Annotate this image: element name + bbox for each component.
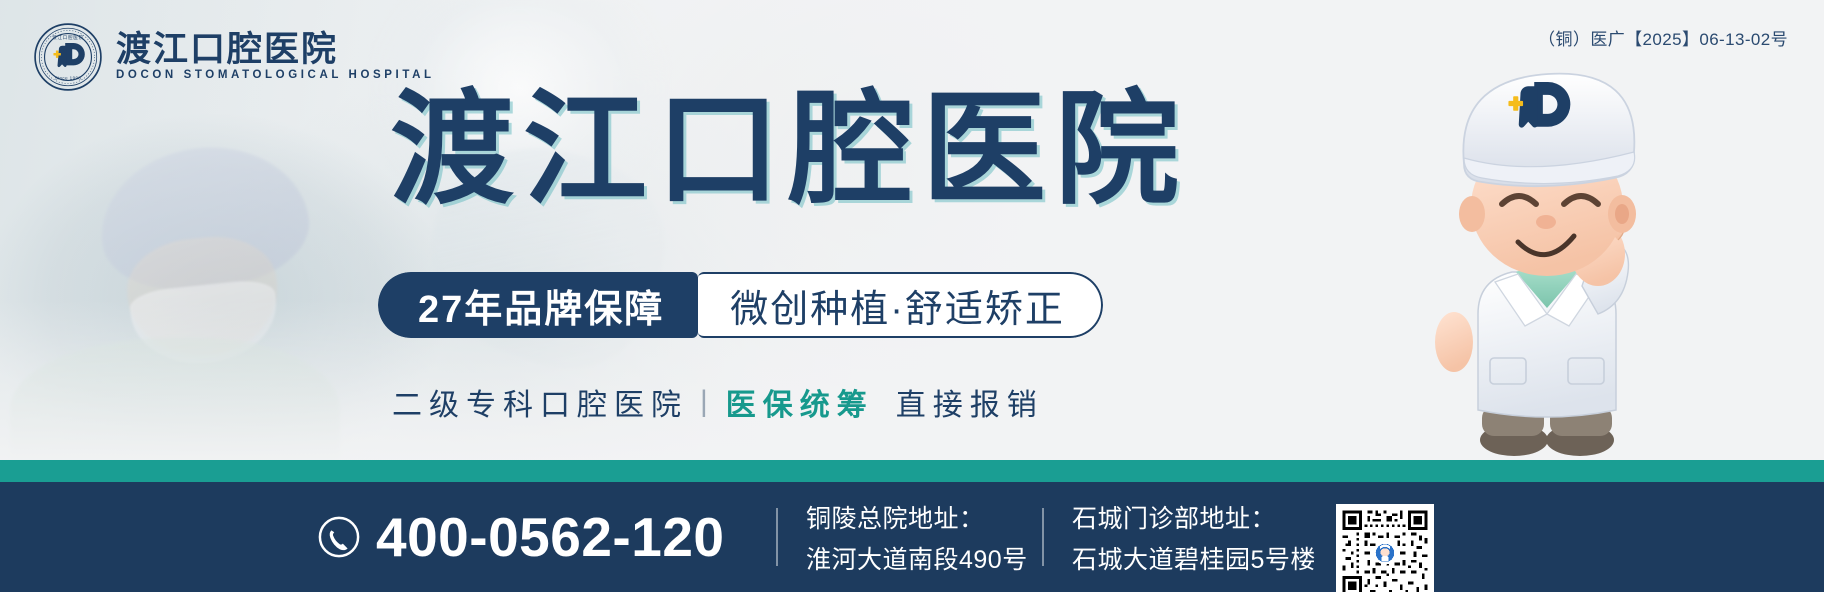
branch-label: 铜陵总院地址： xyxy=(806,499,1028,535)
phone-handset-icon xyxy=(318,516,360,558)
branch-label: 石城门诊部地址： xyxy=(1072,499,1316,535)
brand-logo: 渡江口腔医院 Since 1998 渡江口腔医院 DOCON STOMATOLO… xyxy=(33,22,435,92)
badge-years-label: 27年品牌保障 xyxy=(378,272,698,338)
branch-address-main: 铜陵总院地址： 淮河大道南段490号 xyxy=(806,482,1028,592)
credential-grade: 二级专科口腔医院 xyxy=(392,380,688,424)
phone-block[interactable]: 400-0562-120 xyxy=(318,482,725,592)
brand-name-en: DOCON STOMATOLOGICAL HOSPITAL xyxy=(116,70,435,82)
teal-divider-bar xyxy=(0,460,1824,482)
branch-address: 淮河大道南段490号 xyxy=(806,540,1028,576)
credential-insurance-rest: 直接报销 xyxy=(896,380,1044,424)
credential-insurance-highlight: 医保统筹 xyxy=(726,380,874,424)
phone-number: 400-0562-120 xyxy=(376,510,725,565)
hospital-credentials: 二级专科口腔医院 | 医保统筹 直接报销 xyxy=(392,380,1044,424)
qr-code-icon[interactable] xyxy=(1336,504,1434,592)
dentist-mascot-icon xyxy=(1422,46,1672,460)
footer-divider-2 xyxy=(1042,508,1044,566)
branch-address: 石城大道碧桂园5号楼 xyxy=(1072,540,1316,576)
credential-separator: | xyxy=(700,385,708,419)
branch-address-clinic: 石城门诊部地址： 石城大道碧桂园5号楼 xyxy=(1072,482,1316,592)
svg-text:Since 1998: Since 1998 xyxy=(55,75,82,80)
advertisement-banner: 渡江口腔医院 Since 1998 渡江口腔医院 DOCON STOMATOLO… xyxy=(0,0,1824,592)
hero-badge: 27年品牌保障 微创种植·舒适矫正 xyxy=(378,272,1103,338)
page-title: 渡江口腔医院 xyxy=(390,80,1188,221)
badge-services-label: 微创种植·舒适矫正 xyxy=(698,272,1103,338)
contact-footer: 400-0562-120 铜陵总院地址： 淮河大道南段490号 石城门诊部地址：… xyxy=(0,482,1824,592)
svg-text:渡江口腔医院: 渡江口腔医院 xyxy=(52,34,84,41)
seal-logo-icon: 渡江口腔医院 Since 1998 xyxy=(33,22,103,92)
brand-name-cn: 渡江口腔医院 xyxy=(116,32,435,67)
footer-divider-1 xyxy=(776,508,778,566)
brand-logo-text: 渡江口腔医院 DOCON STOMATOLOGICAL HOSPITAL xyxy=(116,32,435,82)
